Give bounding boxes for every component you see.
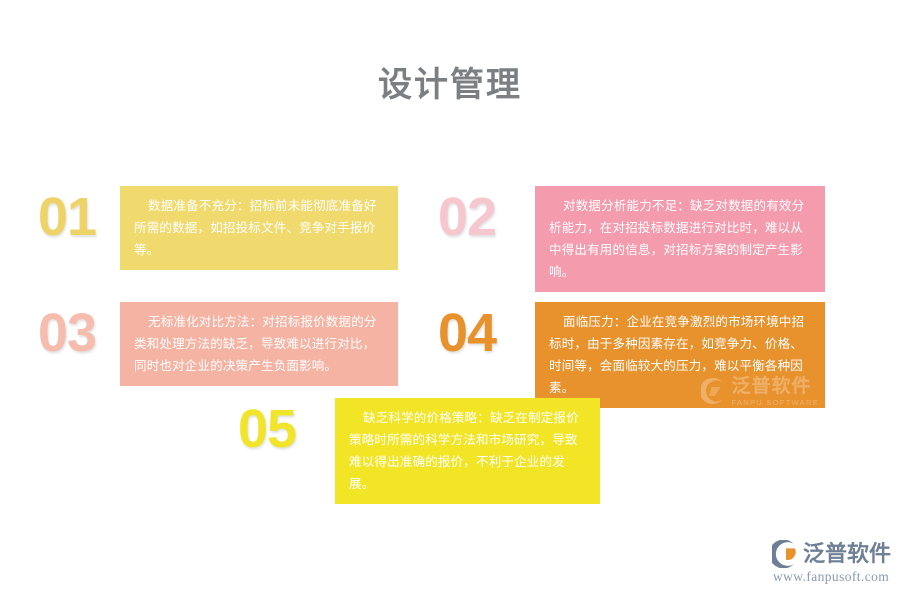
info-item-02: 02 对数据分析能力不足：缺乏对数据的有效分析能力，在对招投标数据进行对比时，难… [438,186,825,292]
info-item-04: 04 面临压力：企业在竞争激烈的市场环境中招标时，由于多种因素存在，如竞争力、价… [438,302,825,408]
brand-url: www.fanpusoft.com [773,569,889,585]
info-item-04-text: 面临压力：企业在竞争激烈的市场环境中招标时，由于多种因素存在，如竞争力、价格、时… [549,315,804,395]
brand-logo-row: 泛普软件 [772,540,891,568]
info-item-02-card: 对数据分析能力不足：缺乏对数据的有效分析能力，在对招投标数据进行对比时，难以从中… [535,186,825,292]
slide-canvas: 设计管理 01 数据准备不充分：招标前未能彻底准备好所需的数据，如招投标文件、竞… [0,0,900,600]
brand-logo: 泛普软件 www.fanpusoft.com [772,540,892,590]
info-item-05-card: 缺乏科学的价格策略：缺乏在制定报价策略时所需的科学方法和市场研究，导致难以得出准… [335,398,600,504]
fanpu-logo-mark-icon [687,378,713,404]
page-title: 设计管理 [0,62,900,108]
info-item-04-card: 面临压力：企业在竞争激烈的市场环境中招标时，由于多种因素存在，如竞争力、价格、时… [535,302,825,408]
watermark-name: 泛普软件 [717,377,819,396]
info-item-03-card: 无标准化对比方法：对招标报价数据的分类和处理方法的缺乏，导致难以进行对比，同时也… [120,302,398,386]
info-item-02-number: 02 [438,186,535,248]
info-item-01-card: 数据准备不充分：招标前未能彻底准备好所需的数据，如招投标文件、竞争对手报价等。 [120,186,398,270]
info-item-01-number: 01 [38,186,120,248]
info-item-05: 05 缺乏科学的价格策略：缺乏在制定报价策略时所需的科学方法和市场研究，导致难以… [238,398,600,504]
watermark-text: 泛普软件 FANPU SOFTWARE [717,377,819,407]
brand-name: 泛普软件 [803,541,891,567]
info-item-04-number: 04 [438,302,535,364]
watermark: 泛普软件 FANPU SOFTWARE [687,377,819,407]
info-item-01: 01 数据准备不充分：招标前未能彻底准备好所需的数据，如招投标文件、竞争对手报价… [38,186,398,270]
info-item-03-number: 03 [38,302,120,364]
fanpu-logo-mark-icon [772,540,800,568]
info-item-03: 03 无标准化对比方法：对招标报价数据的分类和处理方法的缺乏，导致难以进行对比，… [38,302,398,386]
watermark-subtitle: FANPU SOFTWARE [717,399,819,407]
info-item-05-number: 05 [238,398,335,460]
